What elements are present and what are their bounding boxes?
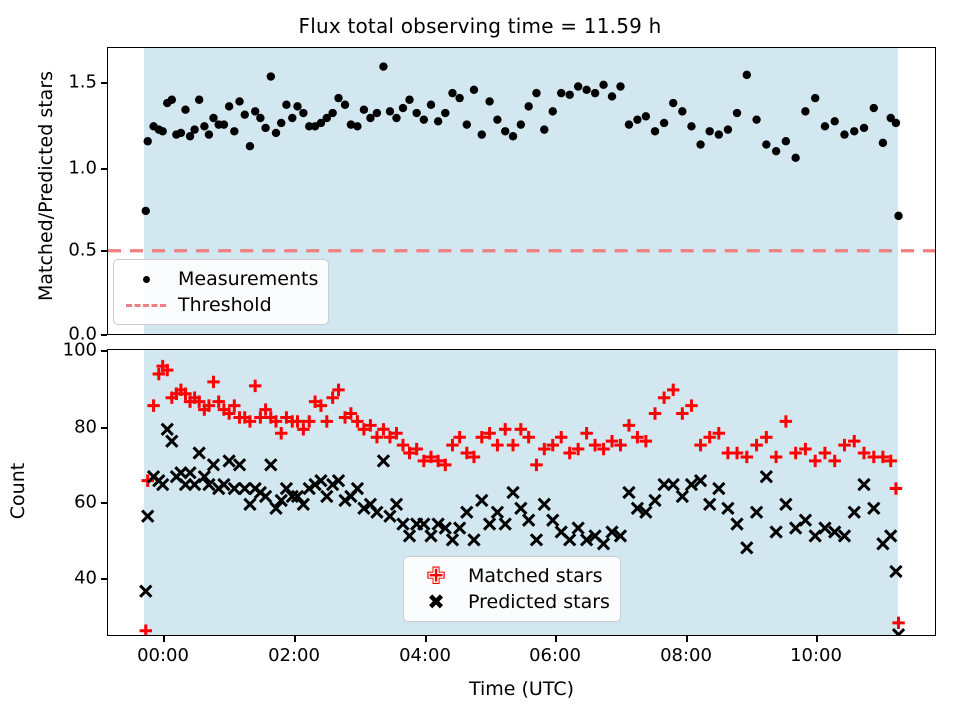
figure-canvas: Flux total observing time = 11.59 h Matc… — [0, 0, 960, 720]
bottom-panel-y-axis-label: Count — [7, 411, 29, 571]
top-ytick-mark-0_0 — [101, 334, 107, 336]
bot-ytick-mark-80 — [101, 427, 107, 429]
xtick-label-0800: 08:00 — [641, 645, 731, 666]
legend-item-threshold[interactable]: Threshold — [122, 292, 318, 318]
top-ytick-0_5: 0.5 — [33, 240, 97, 261]
top-ytick-1_0: 1.0 — [33, 158, 97, 179]
bot-ytick-80: 80 — [33, 417, 97, 438]
xtick-label-0200: 02:00 — [249, 645, 339, 666]
bot-ytick-100: 100 — [33, 340, 97, 361]
xtick-mark-0000 — [163, 636, 165, 642]
xtick-label-0600: 06:00 — [510, 645, 600, 666]
top-ytick-mark-0_5 — [101, 250, 107, 252]
bot-ytick-mark-100 — [101, 350, 107, 352]
legend-item-predicted-stars[interactable]: ✖ Predicted stars — [412, 589, 610, 615]
bottom-panel-legend[interactable]: ✙ Matched stars ✖ Predicted stars — [403, 556, 621, 622]
measurements-dot-icon — [122, 276, 170, 283]
x-axis-label: Time (UTC) — [107, 678, 936, 700]
xtick-label-0400: 04:00 — [380, 645, 470, 666]
series-measurements — [142, 62, 903, 220]
predicted-stars-cross-icon: ✖ — [412, 592, 460, 613]
legend-label-predicted-stars: Predicted stars — [460, 591, 610, 613]
matched-stars-plus-icon: ✙ — [412, 564, 460, 588]
bot-ytick-60: 60 — [33, 492, 97, 513]
top-panel-legend[interactable]: Measurements Threshold — [113, 259, 329, 325]
bot-ytick-mark-60 — [101, 502, 107, 504]
xtick-mark-0400 — [425, 636, 427, 642]
legend-label-threshold: Threshold — [170, 294, 272, 316]
top-ytick-mark-1_0 — [101, 168, 107, 170]
xtick-mark-0600 — [555, 636, 557, 642]
top-ytick-mark-1_5 — [101, 82, 107, 84]
legend-label-matched-stars: Matched stars — [460, 565, 602, 587]
xtick-label-1000: 10:00 — [771, 645, 861, 666]
xtick-mark-0200 — [294, 636, 296, 642]
bot-ytick-mark-40 — [101, 578, 107, 580]
threshold-dashed-line-icon — [122, 304, 170, 307]
bot-ytick-40: 40 — [33, 568, 97, 589]
page-title: Flux total observing time = 11.59 h — [0, 14, 960, 38]
legend-label-measurements: Measurements — [170, 268, 318, 290]
top-ytick-1_5: 1.5 — [33, 72, 97, 93]
xtick-label-0000: 00:00 — [118, 645, 208, 666]
xtick-mark-0800 — [686, 636, 688, 642]
xtick-mark-1000 — [816, 636, 818, 642]
legend-item-measurements[interactable]: Measurements — [122, 266, 318, 292]
legend-item-matched-stars[interactable]: ✙ Matched stars — [412, 563, 610, 589]
